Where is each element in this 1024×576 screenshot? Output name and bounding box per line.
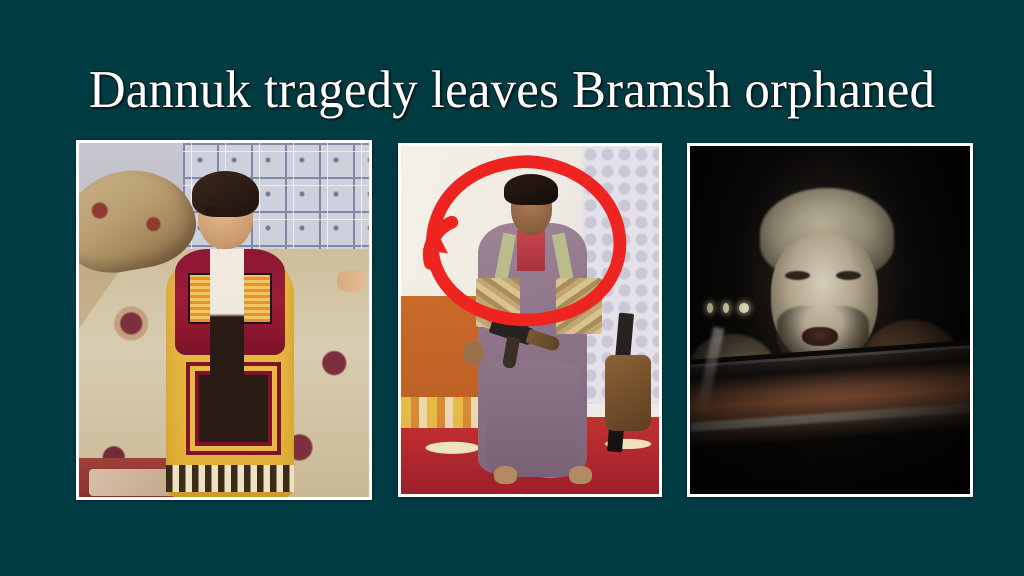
child-arm [337,270,366,291]
child-eyes [204,205,248,216]
photo-vignette [690,146,970,494]
man-right-foot [569,466,592,483]
news-graphic-slide: Dannuk tragedy leaves Bramsh orphaned [0,0,1024,576]
child-photo-canvas [79,143,369,497]
child-photo [76,140,372,500]
rifle-magazine [502,335,520,367]
man-red-undershirt [517,230,545,272]
man-left-hand [463,341,484,365]
man-hair [504,174,558,205]
rifle-stock [525,329,561,352]
dress-placket [210,249,245,419]
suspect-photo [398,143,662,497]
suspect-photo-canvas [401,146,659,494]
arrest-photo [687,143,973,497]
page-title: Dannuk tragedy leaves Bramsh orphaned [20,62,1003,118]
arrest-photo-canvas [690,146,970,494]
man-left-foot [494,466,517,483]
leather-bag [605,355,651,432]
